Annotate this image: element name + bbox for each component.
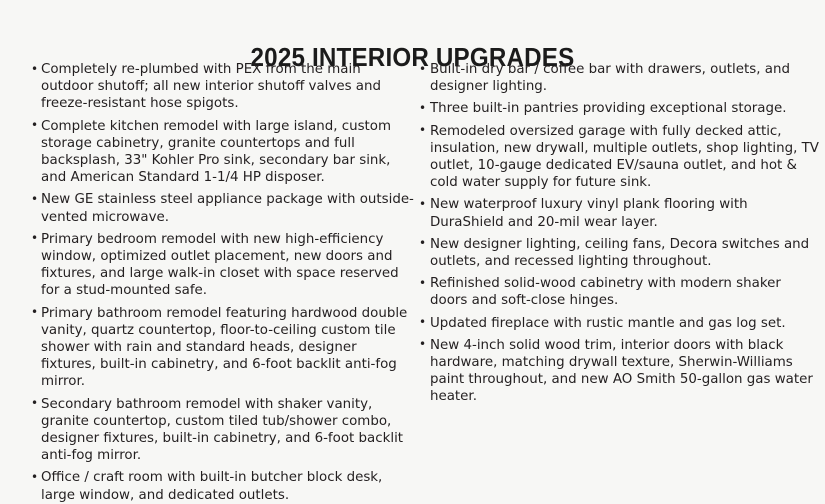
list-item: Secondary bathroom remodel with shaker v… xyxy=(31,396,415,465)
bullet-columns: Completely re-plumbed with PEX from the … xyxy=(0,61,825,504)
right-bullet-list: Built-in dry bar / coffee bar with drawe… xyxy=(419,61,819,406)
list-item: Primary bedroom remodel with new high-ef… xyxy=(31,231,415,300)
list-item: Built-in dry bar / coffee bar with drawe… xyxy=(419,61,819,95)
list-item: Three built-in pantries providing except… xyxy=(419,100,819,117)
list-item: New designer lighting, ceiling fans, Dec… xyxy=(419,236,819,270)
list-item: Refinished solid-wood cabinetry with mod… xyxy=(419,275,819,309)
left-column: Completely re-plumbed with PEX from the … xyxy=(0,61,415,504)
list-item: Completely re-plumbed with PEX from the … xyxy=(31,61,415,113)
list-item: Complete kitchen remodel with large isla… xyxy=(31,118,415,187)
left-bullet-list: Completely re-plumbed with PEX from the … xyxy=(31,61,415,504)
list-item: New 4-inch solid wood trim, interior doo… xyxy=(419,337,819,406)
list-item: New GE stainless steel appliance package… xyxy=(31,191,415,225)
list-item: Office / craft room with built-in butche… xyxy=(31,469,415,503)
list-item: Updated fireplace with rustic mantle and… xyxy=(419,315,819,332)
list-item: New waterproof luxury vinyl plank floori… xyxy=(419,196,819,230)
list-item: Primary bathroom remodel featuring hardw… xyxy=(31,305,415,391)
slide-root: 2025 INTERIOR UPGRADES Completely re-plu… xyxy=(0,0,825,464)
list-item: Remodeled oversized garage with fully de… xyxy=(419,123,819,192)
right-column: Built-in dry bar / coffee bar with drawe… xyxy=(415,61,825,406)
